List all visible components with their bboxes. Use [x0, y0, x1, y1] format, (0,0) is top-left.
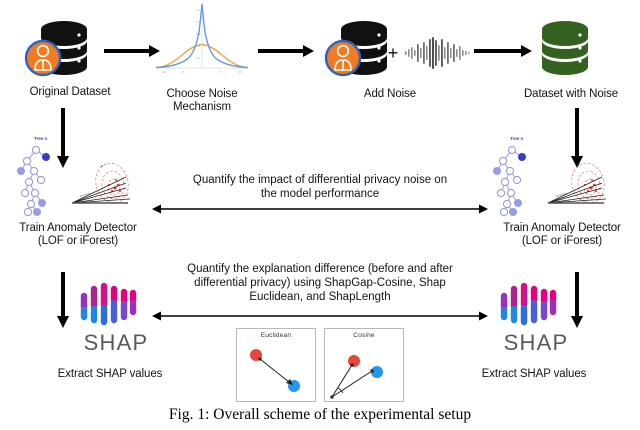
cosine-angle-diagram — [325, 341, 403, 401]
figure-caption: Fig. 1: Overall scheme of the experiment… — [0, 406, 640, 424]
svg-text:0.5: 0.5 — [196, 8, 201, 12]
panel-title-cosine: Cosine — [325, 332, 403, 339]
shap-wordmark-right: SHAP — [486, 330, 586, 356]
isolation-tree-diagram-right: Tree n — [488, 132, 548, 222]
label-train-anomaly-detector-right: Train Anomaly Detector (LOF or iForest) — [484, 222, 640, 248]
shap-logo-right — [496, 276, 564, 328]
label-add-noise: Add Noise — [330, 88, 450, 101]
shap-logo-left — [76, 276, 144, 328]
panel-euclidean: Euclidean — [236, 328, 316, 402]
audio-waveform-icon — [404, 36, 472, 70]
figure-overall-scheme: Original Dataset -10 -5 5 10 0.5 0.4 0.3… — [0, 0, 640, 430]
svg-text:10: 10 — [238, 70, 242, 74]
label-extract-shap-values-right: Extract SHAP values — [444, 368, 624, 381]
arrow-train-to-shap-right — [570, 272, 584, 328]
anomaly-detector-plot-left: anomaly — [68, 155, 140, 221]
text-quantify-explanation-difference: Quantify the explanation difference (bef… — [152, 262, 488, 304]
tree-caption: Tree n — [34, 136, 48, 141]
label-choose-noise: Choose Noise Mechanism — [142, 88, 262, 114]
plus-icon: + — [385, 44, 401, 62]
label-extract-shap-values-left: Extract SHAP values — [20, 368, 200, 381]
panel-cosine: Cosine — [324, 328, 404, 402]
svg-text:5: 5 — [220, 70, 222, 74]
panel-title-euclidean: Euclidean — [237, 332, 315, 339]
user-avatar-badge-icon — [26, 41, 60, 75]
database-green-icon — [534, 18, 596, 80]
svg-text:anomaly: anomaly — [555, 191, 567, 198]
label-dataset-with-noise: Dataset with Noise — [502, 88, 640, 101]
svg-text:anomaly: anomaly — [79, 191, 91, 198]
isolation-tree-diagram-left: Tree n — [12, 132, 72, 222]
text-quantify-model-performance: Quantify the impact of differential priv… — [155, 173, 485, 201]
double-arrow-explanation-difference — [152, 310, 488, 322]
tree-caption: Tree n — [510, 136, 524, 141]
database-user-icon-original — [22, 18, 96, 80]
user-avatar-badge-icon — [326, 41, 360, 75]
svg-text:0.1: 0.1 — [196, 56, 201, 60]
noise-distribution-plot: -10 -5 5 10 0.5 0.4 0.3 0.2 0.1 — [152, 2, 252, 80]
label-train-anomaly-detector-left: Train Anomaly Detector (LOF or iForest) — [0, 222, 156, 248]
arrow-train-to-shap-left — [56, 272, 70, 328]
arrow-add-to-noisy-dataset — [474, 44, 532, 58]
svg-text:-5: -5 — [182, 70, 185, 74]
euclidean-distance-diagram — [237, 341, 315, 401]
label-original-dataset: Original Dataset — [0, 86, 140, 99]
double-arrow-model-performance — [152, 203, 488, 215]
shap-wordmark-left: SHAP — [66, 330, 166, 356]
arrow-noise-to-add — [258, 44, 314, 58]
anomaly-detector-plot-right: anomaly — [544, 155, 616, 221]
svg-text:-10: -10 — [162, 70, 167, 74]
